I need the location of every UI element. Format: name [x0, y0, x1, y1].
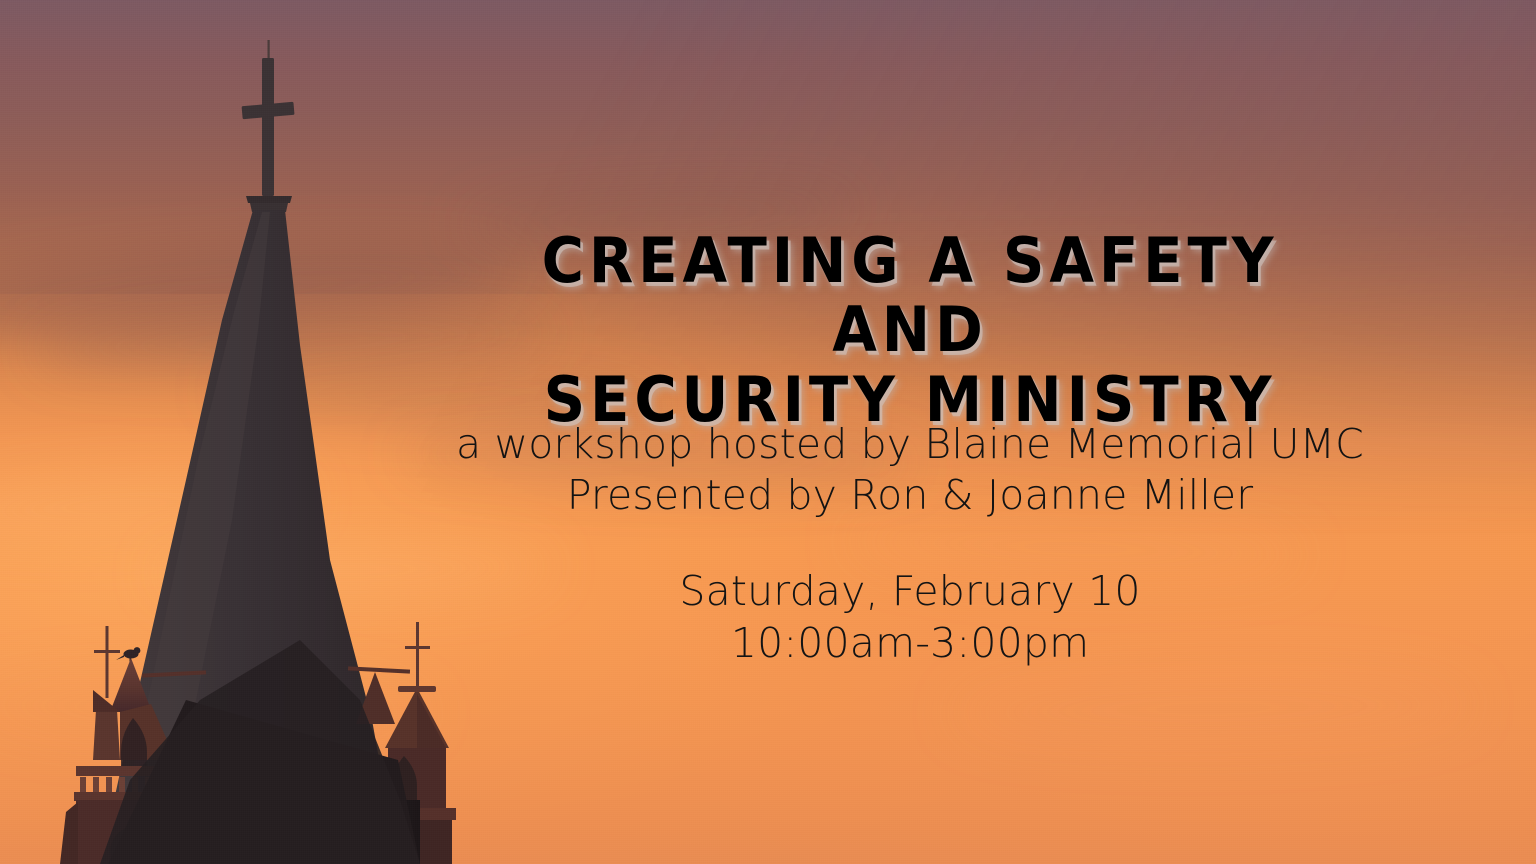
event-flyer-poster: CREATING A SAFETY AND SECURITY MINISTRY … [0, 0, 1536, 864]
page-title: CREATING A SAFETY AND SECURITY MINISTRY [454, 226, 1365, 434]
event-datetime: Saturday, February 10 10:00am-3:00pm [420, 565, 1400, 670]
workshop-subtitle: a workshop hosted by Blaine Memorial UMC… [420, 419, 1400, 521]
flyer-text-block: CREATING A SAFETY AND SECURITY MINISTRY … [420, 0, 1400, 864]
